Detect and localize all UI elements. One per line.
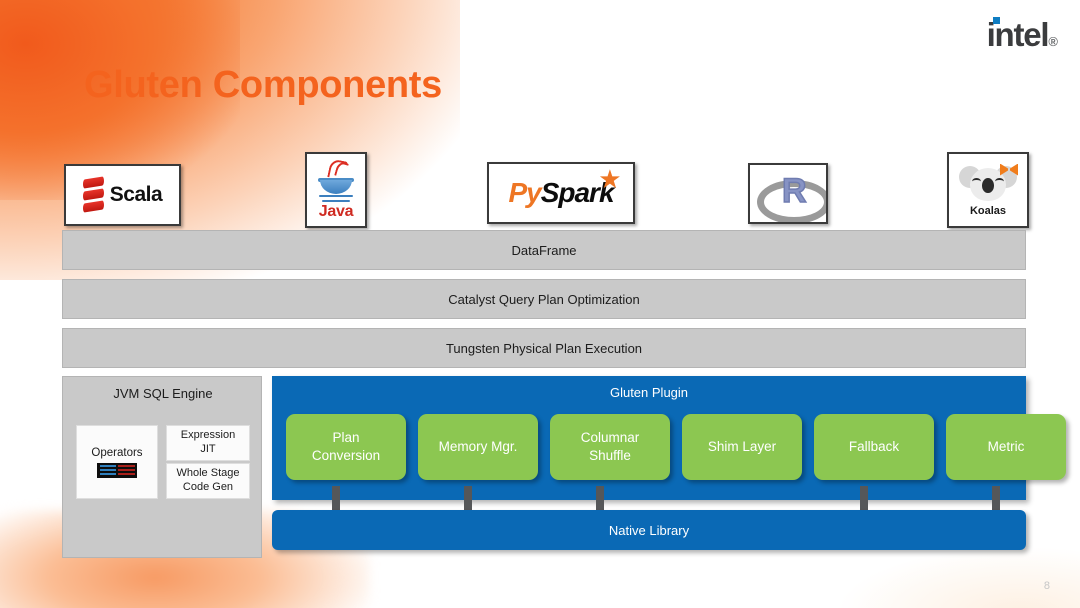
expression-jit-line2: JIT bbox=[200, 443, 215, 455]
chip-plan-conversion-line2: Conversion bbox=[312, 448, 380, 463]
chip-shim-layer[interactable]: Shim Layer bbox=[682, 414, 802, 480]
java-label: Java bbox=[319, 204, 353, 220]
scala-icon bbox=[83, 178, 104, 212]
chip-fallback-label: Fallback bbox=[849, 438, 899, 456]
slide-canvas: intel® Gluten Components 8 Scala bbox=[0, 0, 1080, 608]
pyspark-logo-tile: Py Spark ★ bbox=[487, 162, 635, 224]
chip-memory-mgr-label: Memory Mgr. bbox=[439, 438, 518, 456]
koala-face-icon bbox=[959, 164, 1017, 204]
intel-logo-registered: ® bbox=[1048, 34, 1058, 49]
r-logo-tile: R bbox=[748, 163, 828, 224]
chip-metric[interactable]: Metric bbox=[946, 414, 1066, 480]
page-title: Gluten Components bbox=[84, 64, 442, 107]
chip-shim-layer-label: Shim Layer bbox=[708, 438, 776, 456]
catalyst-bar: Catalyst Query Plan Optimization bbox=[62, 279, 1026, 319]
koala-bow-icon bbox=[1000, 164, 1018, 176]
chip-columnar-shuffle[interactable]: Columnar Shuffle bbox=[550, 414, 670, 480]
gluten-plugin-box: Gluten Plugin Plan Conversion Memory Mgr… bbox=[272, 376, 1026, 500]
r-label: R bbox=[782, 174, 807, 208]
chip-columnar-shuffle-line1: Columnar bbox=[581, 430, 640, 445]
pyspark-star-icon: ★ bbox=[598, 166, 621, 192]
architecture-diagram: Scala Java bbox=[62, 150, 1026, 560]
chip-plan-conversion[interactable]: Plan Conversion bbox=[286, 414, 406, 480]
koalas-label: Koalas bbox=[970, 205, 1006, 217]
jvm-sql-engine-box: JVM SQL Engine Operators Expression JIT … bbox=[62, 376, 262, 558]
intel-logo-dot bbox=[993, 17, 1000, 24]
expression-jit-line1: Expression bbox=[181, 429, 235, 441]
chip-columnar-shuffle-line2: Shuffle bbox=[589, 448, 631, 463]
pyspark-label-py: Py bbox=[508, 177, 540, 209]
scala-logo-tile: Scala bbox=[64, 164, 181, 226]
java-logo-tile: Java bbox=[305, 152, 367, 228]
chip-memory-mgr[interactable]: Memory Mgr. bbox=[418, 414, 538, 480]
whole-stage-code-gen-line1: Whole Stage bbox=[177, 467, 240, 479]
gluten-plugin-title: Gluten Plugin bbox=[272, 385, 1026, 400]
chip-metric-label: Metric bbox=[988, 438, 1025, 456]
intel-logo: intel® bbox=[987, 18, 1058, 51]
java-coffee-cup-icon bbox=[317, 161, 355, 205]
columnar-data-icon bbox=[97, 463, 137, 478]
whole-stage-code-gen-line2: Code Gen bbox=[183, 481, 233, 493]
expression-jit-box: Expression JIT bbox=[166, 425, 250, 461]
chip-fallback[interactable]: Fallback bbox=[814, 414, 934, 480]
jvm-sql-engine-title: JVM SQL Engine bbox=[63, 386, 263, 401]
chip-plan-conversion-line1: Plan bbox=[332, 430, 359, 445]
whole-stage-code-gen-box: Whole Stage Code Gen bbox=[166, 463, 250, 499]
language-logo-row: Scala Java bbox=[62, 150, 1026, 230]
koalas-logo-tile: Koalas bbox=[947, 152, 1029, 228]
operators-label: Operators bbox=[91, 447, 142, 459]
dataframe-bar: DataFrame bbox=[62, 230, 1026, 270]
tungsten-bar: Tungsten Physical Plan Execution bbox=[62, 328, 1026, 368]
page-number: 8 bbox=[1044, 580, 1050, 592]
native-library-bar: Native Library bbox=[272, 510, 1026, 550]
operators-box: Operators bbox=[76, 425, 158, 499]
scala-label: Scala bbox=[110, 183, 162, 207]
